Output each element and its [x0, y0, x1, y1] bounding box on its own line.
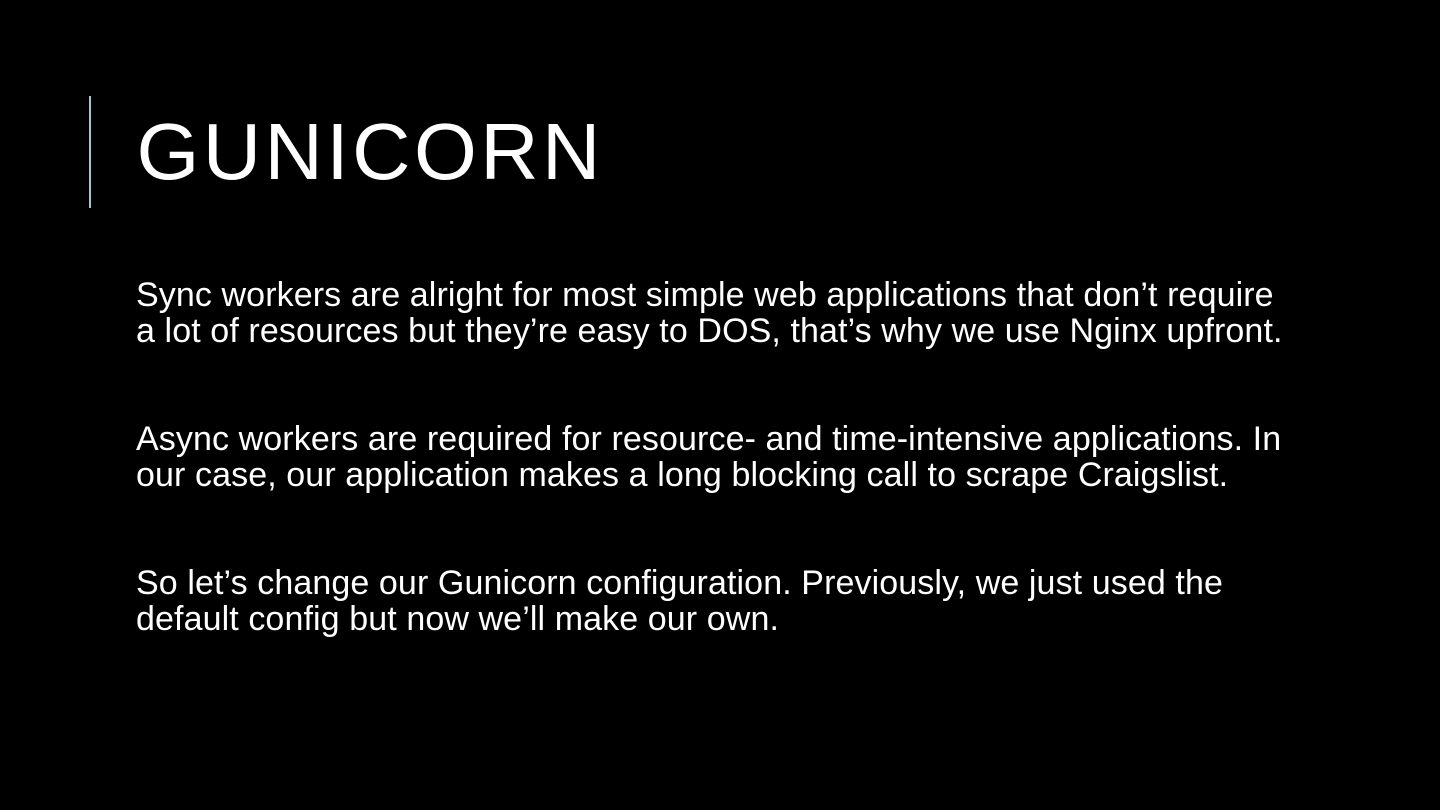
page-title: GUNICORN	[91, 96, 604, 208]
slide-body-block: Sync workers are alright for most simple…	[136, 277, 1296, 637]
presentation-slide: GUNICORN Sync workers are alright for mo…	[0, 0, 1440, 810]
body-paragraph-2: Async workers are required for resource-…	[136, 421, 1296, 493]
slide-title-block: GUNICORN	[89, 96, 1369, 208]
body-paragraph-3: So let’s change our Gunicorn configurati…	[136, 565, 1296, 637]
body-paragraph-1: Sync workers are alright for most simple…	[136, 277, 1296, 349]
